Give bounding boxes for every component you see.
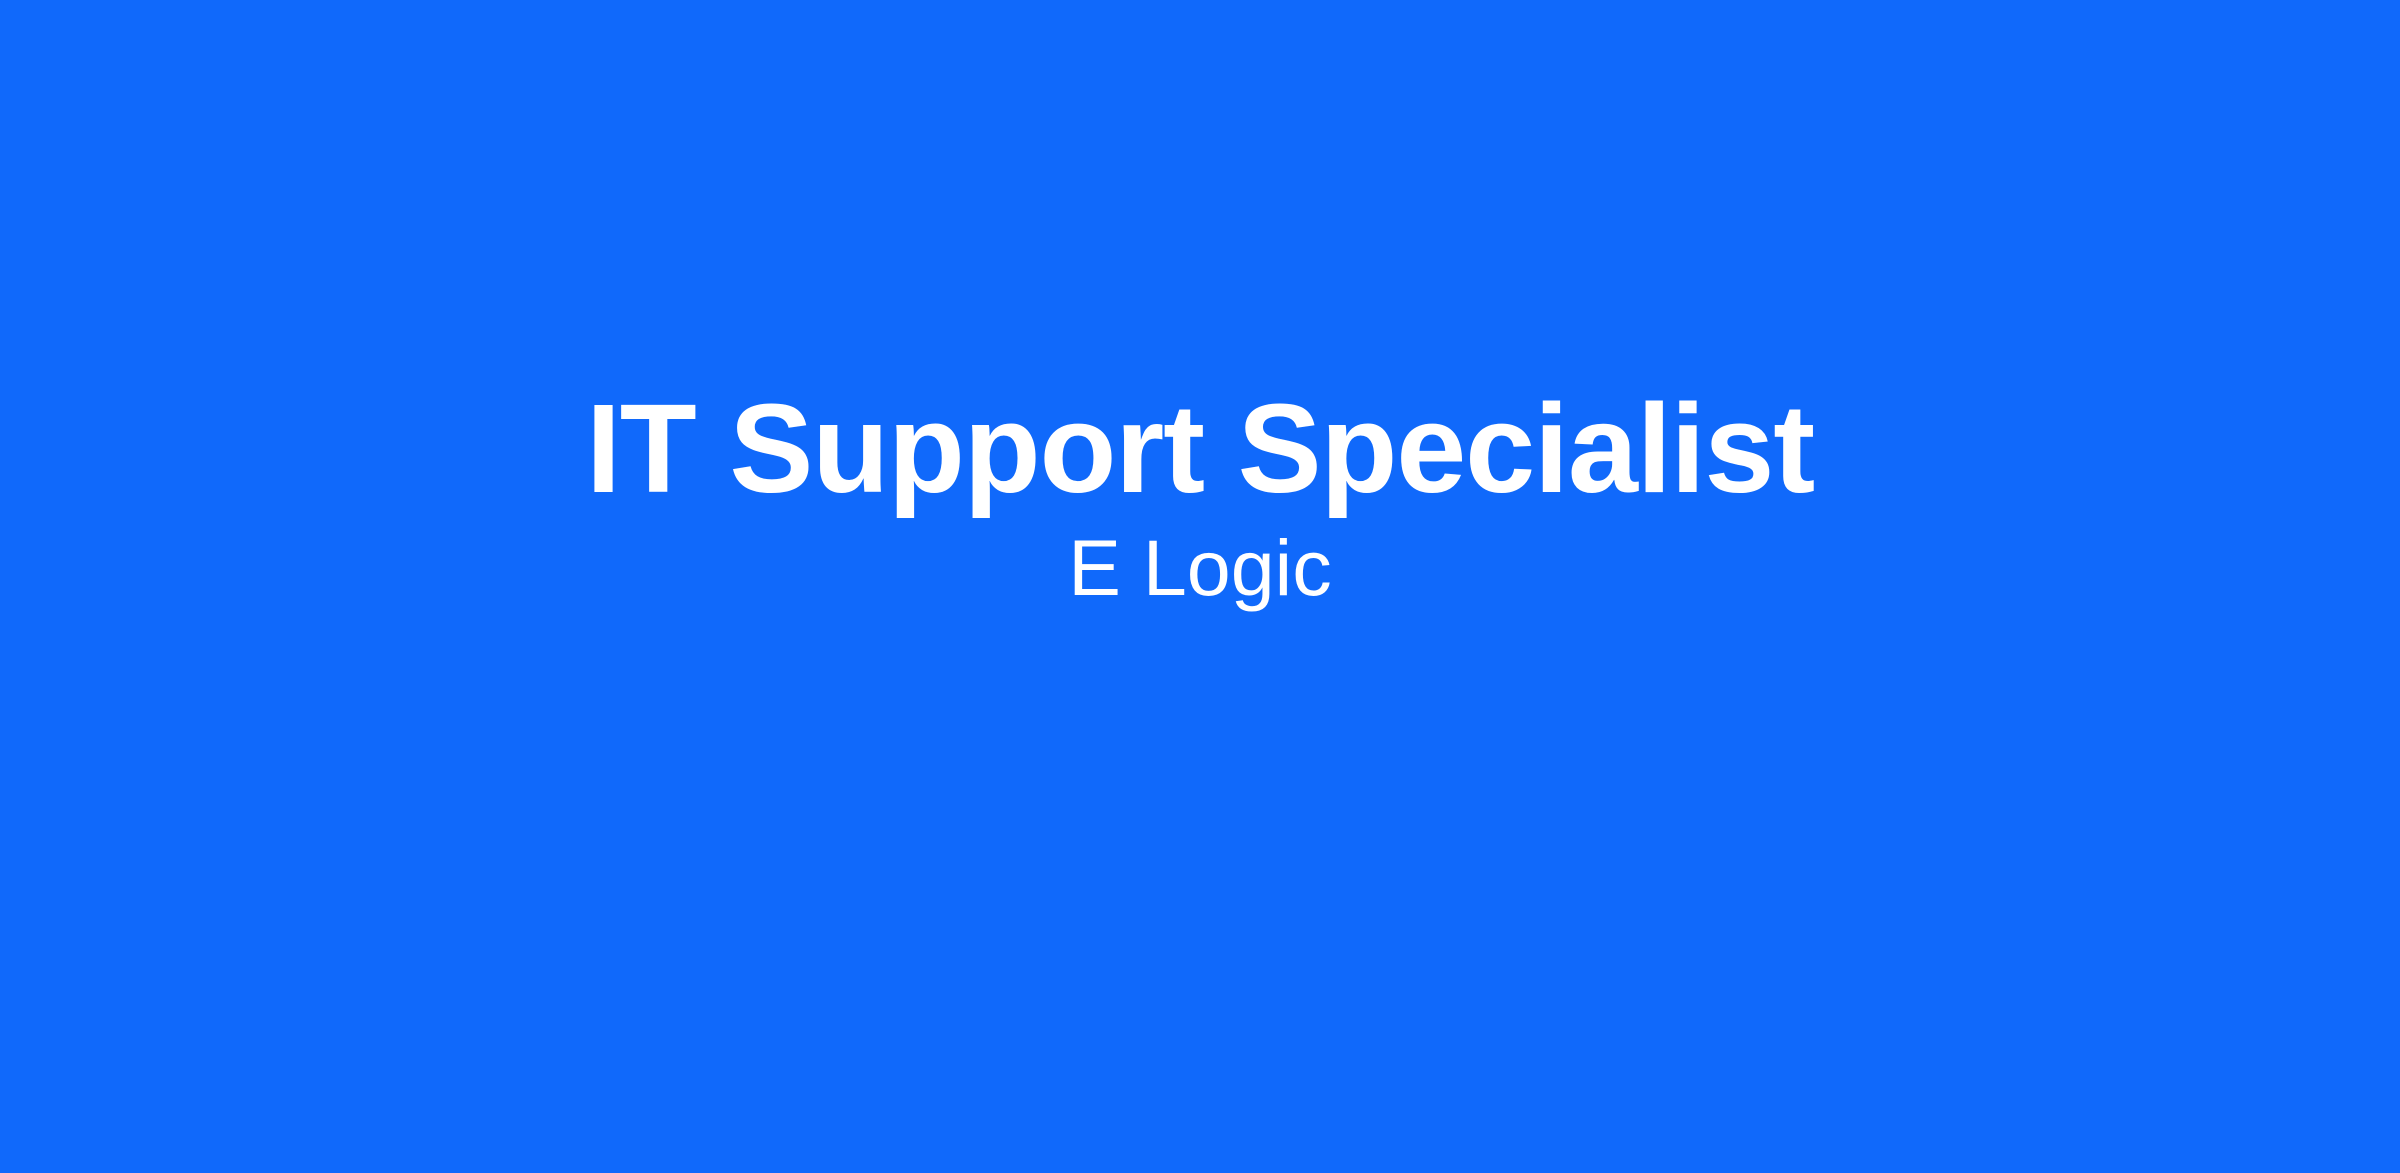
page-title: IT Support Specialist: [586, 385, 1814, 514]
job-title-card: IT Support Specialist E Logic: [0, 0, 2400, 1173]
hero-text-block: IT Support Specialist E Logic: [0, 385, 2400, 788]
company-name: E Logic: [1068, 527, 1332, 610]
